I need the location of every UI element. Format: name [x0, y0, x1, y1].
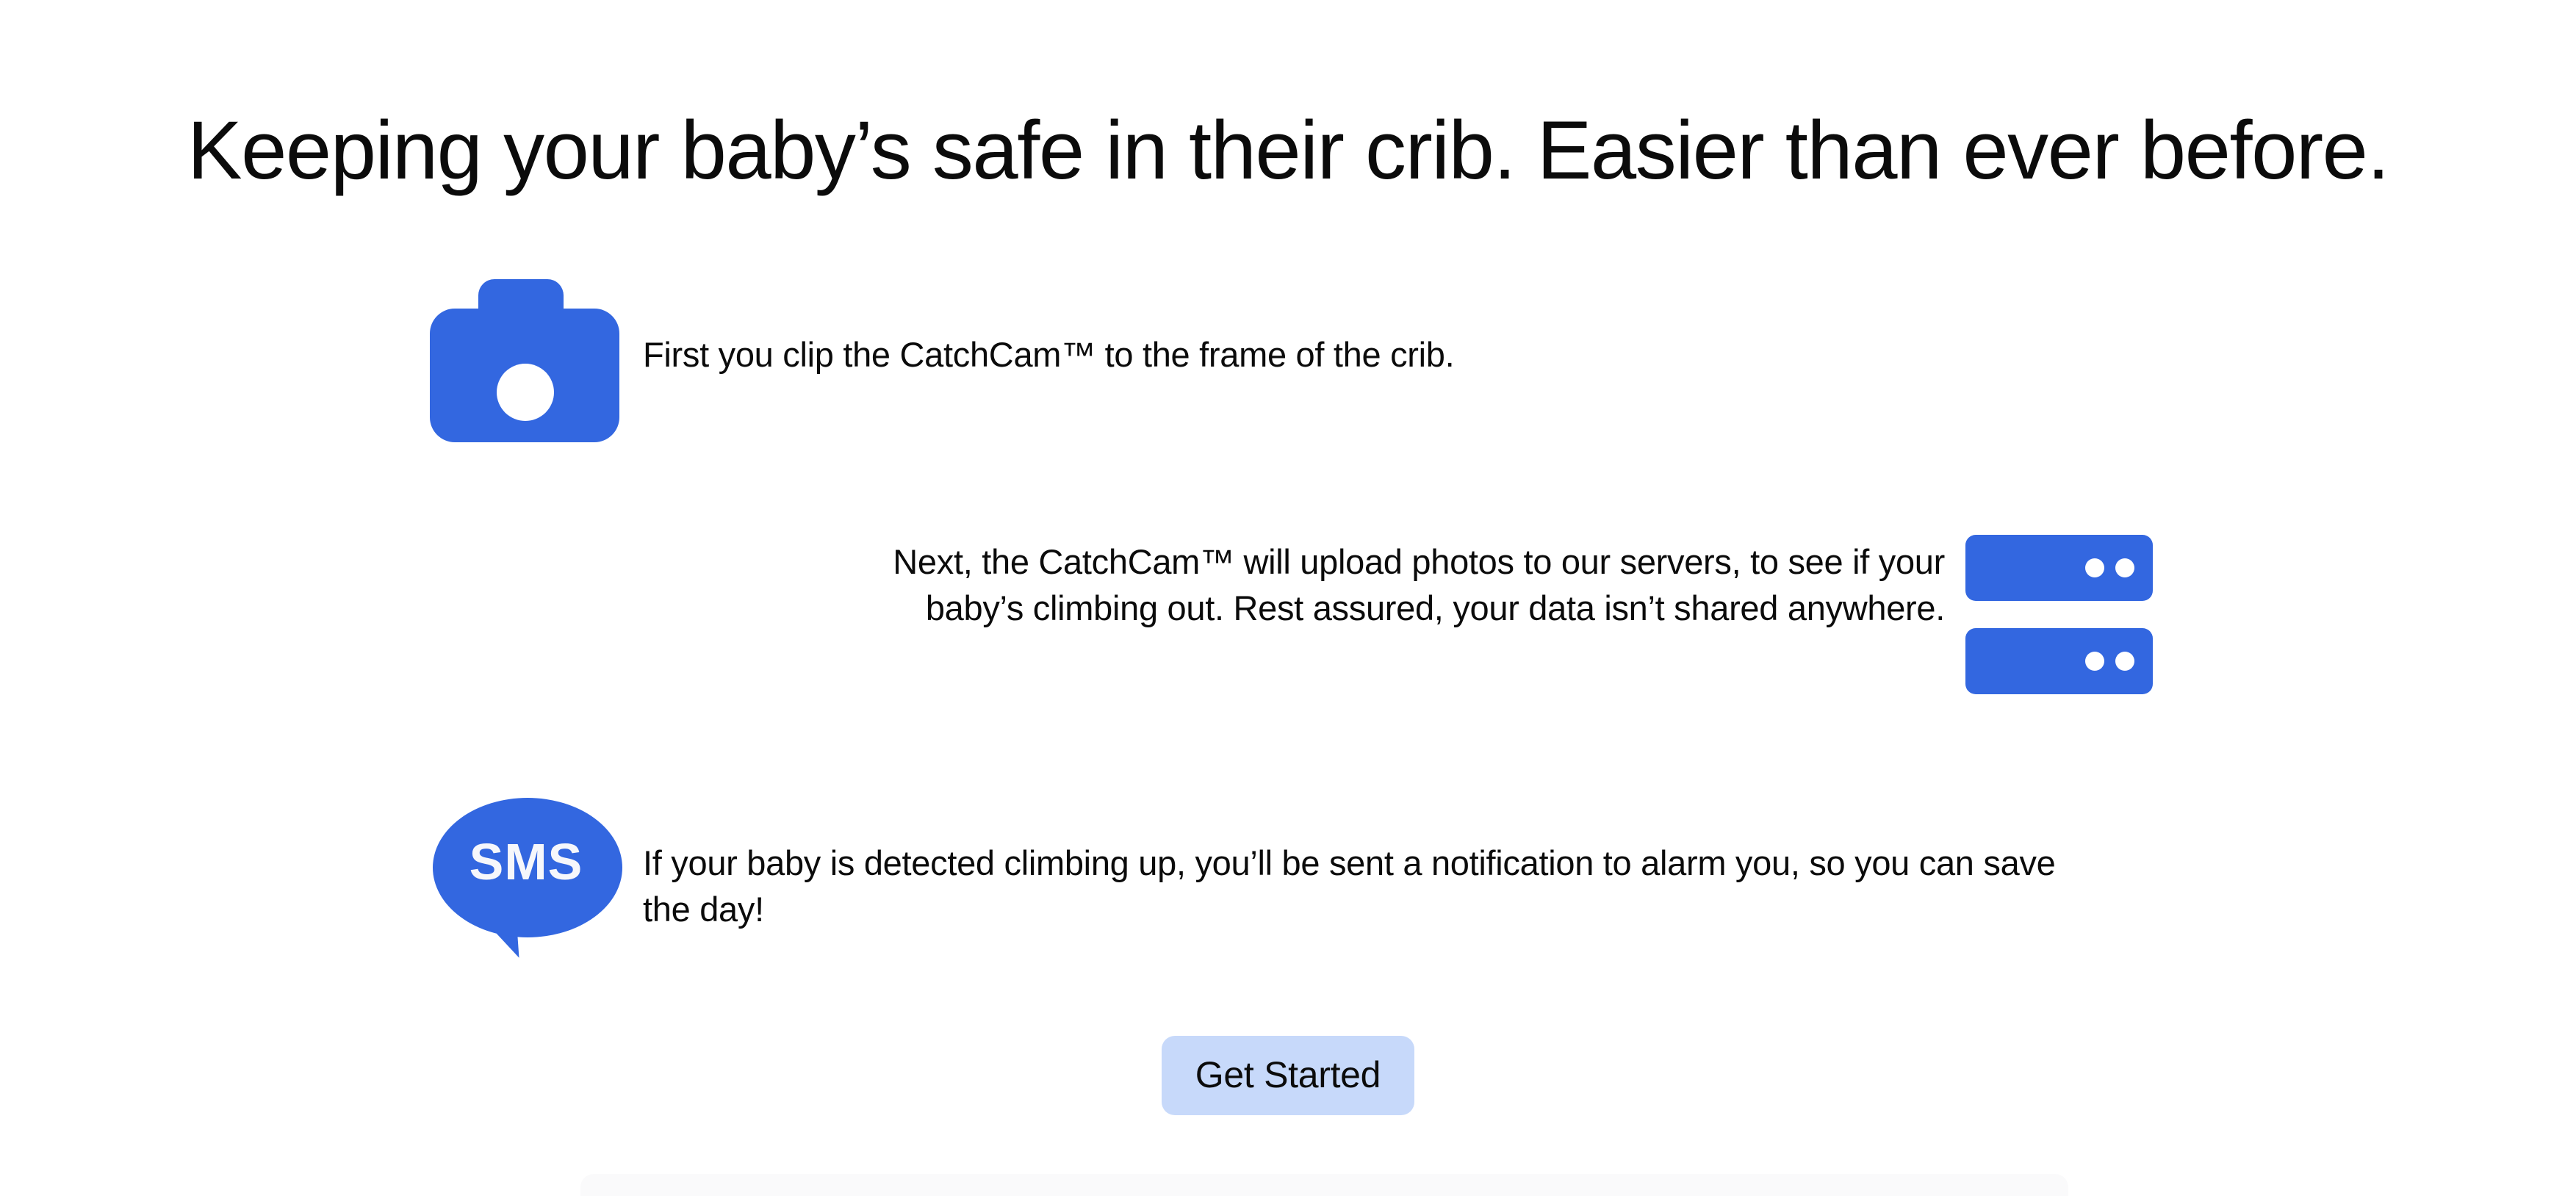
server-unit-top: [1965, 535, 2153, 601]
camera-lens-shape: [497, 364, 554, 421]
get-started-button[interactable]: Get Started: [1162, 1036, 1414, 1115]
step-description-sms: If your baby is detected climbing up, yo…: [643, 840, 2068, 932]
page-title: Keeping your baby’s safe in their crib. …: [0, 101, 2576, 201]
landing-page: Keeping your baby’s safe in their crib. …: [0, 0, 2576, 1193]
server-led-icon: [2085, 558, 2104, 577]
step-description-camera: First you clip the CatchCam™ to the fram…: [643, 332, 1454, 378]
step-description-servers: Next, the CatchCam™ will upload photos t…: [835, 539, 1945, 631]
server-led-icon: [2115, 558, 2134, 577]
sms-icon-label: SMS: [430, 836, 622, 887]
server-unit-bottom: [1965, 628, 2153, 694]
cta-container: Get Started: [0, 1036, 2576, 1115]
server-led-icon: [2085, 652, 2104, 671]
camera-icon: [430, 279, 619, 442]
step-row-servers: Next, the CatchCam™ will upload photos t…: [808, 535, 2153, 694]
step-row-sms: SMS If your baby is detected climbing up…: [430, 798, 2193, 967]
server-stack-icon: [1965, 535, 2153, 694]
step-row-camera: First you clip the CatchCam™ to the fram…: [430, 279, 2120, 442]
server-led-icon: [2115, 652, 2134, 671]
sms-bubble-icon: SMS: [430, 798, 622, 967]
